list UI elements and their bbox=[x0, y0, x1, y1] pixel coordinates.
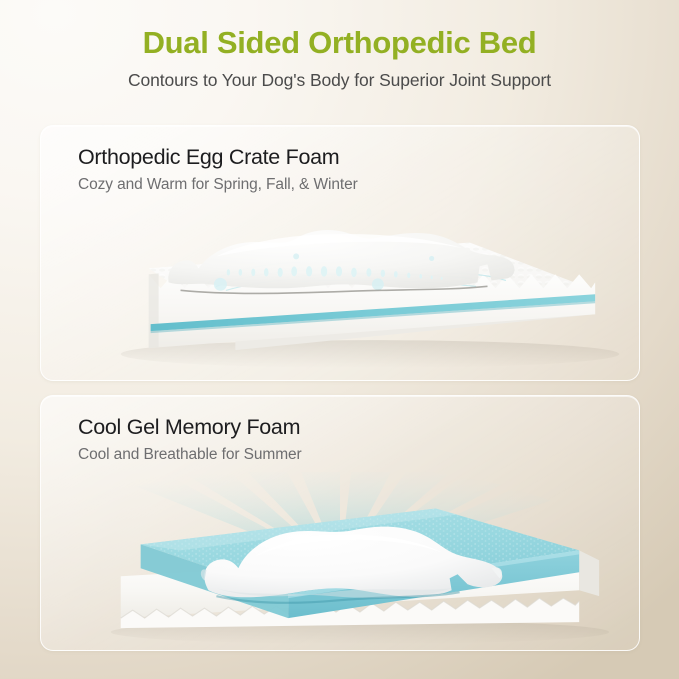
feature-card-orthopedic-egg-crate-foam: Orthopedic Egg Crate Foam Cozy and Warm … bbox=[40, 125, 640, 381]
card-title: Orthopedic Egg Crate Foam bbox=[78, 145, 639, 170]
card-header: Orthopedic Egg Crate Foam Cozy and Warm … bbox=[41, 126, 639, 194]
card-header: Cool Gel Memory Foam Cool and Breathable… bbox=[41, 396, 639, 464]
egg-crate-foam-illustration bbox=[41, 202, 639, 380]
card-subtitle: Cool and Breathable for Summer bbox=[78, 446, 639, 464]
card-title: Cool Gel Memory Foam bbox=[78, 415, 639, 440]
page-subtitle: Contours to Your Dog's Body for Superior… bbox=[0, 70, 679, 91]
page-title: Dual Sided Orthopedic Bed bbox=[0, 26, 679, 61]
gel-memory-foam-illustration bbox=[41, 472, 639, 650]
header: Dual Sided Orthopedic Bed Contours to Yo… bbox=[0, 0, 679, 91]
feature-card-cool-gel-memory-foam: Cool Gel Memory Foam Cool and Breathable… bbox=[40, 395, 640, 651]
card-subtitle: Cozy and Warm for Spring, Fall, & Winter bbox=[78, 176, 639, 194]
